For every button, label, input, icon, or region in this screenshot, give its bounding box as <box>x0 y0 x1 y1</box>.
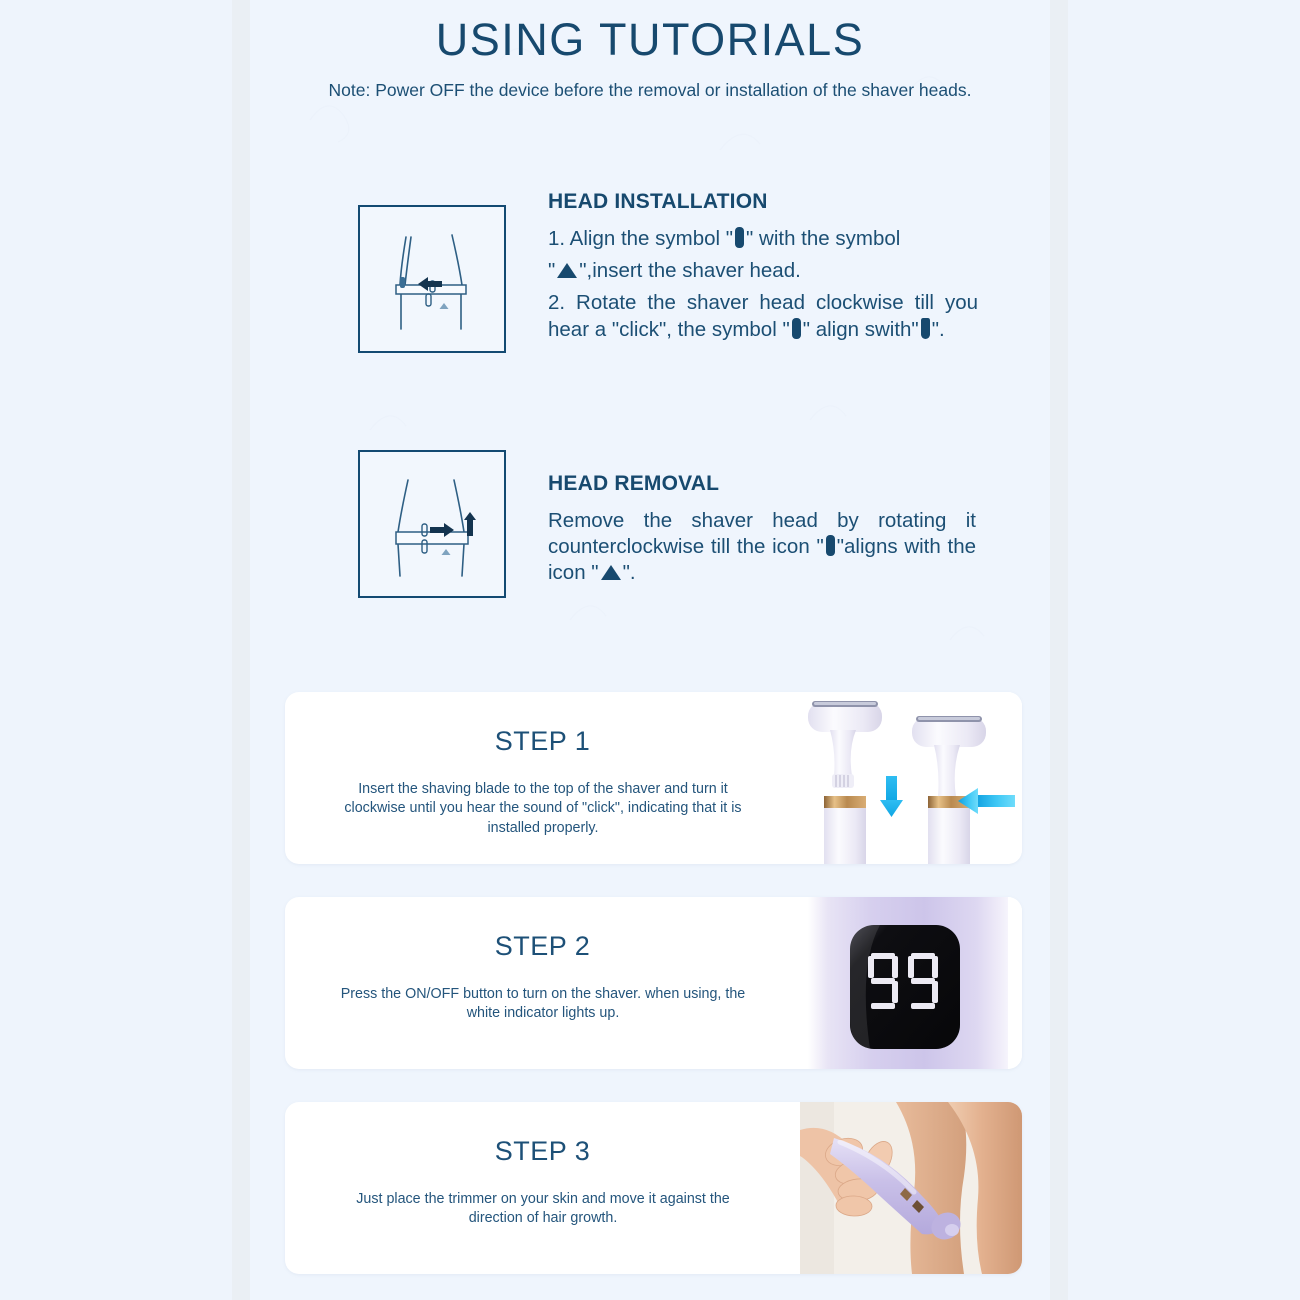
head-removal-line-1: Remove the shaver head by rotating it co… <box>548 508 976 587</box>
line-3-suffix2: ". <box>932 318 945 341</box>
pill-symbol-icon <box>735 227 744 248</box>
head-installation-line-1: 1. Align the symbol "" with the symbol <box>548 226 978 252</box>
step-1-media <box>800 692 1022 864</box>
left-gutter <box>232 0 250 1300</box>
step-1-label: STEP 1 <box>285 726 800 757</box>
head-removal-heading: HEAD REMOVAL <box>548 472 976 496</box>
step-3-label: STEP 3 <box>285 1136 800 1167</box>
line-2-prefix: " <box>548 259 555 282</box>
page-root: USING TUTORIALS Note: Power OFF the devi… <box>0 0 1300 1300</box>
line-1-suffix: " with the symbol <box>746 227 900 250</box>
step-3-description: Just place the trimmer on your skin and … <box>333 1190 753 1229</box>
head-installation-heading: HEAD INSTALLATION <box>548 190 978 214</box>
pill-symbol-icon <box>792 318 801 339</box>
step-card-1[interactable]: STEP 1 Insert the shaving blade to the t… <box>285 692 1022 864</box>
step-2-text: STEP 2 Press the ON/OFF button to turn o… <box>285 897 800 1069</box>
triangle-symbol-icon <box>601 565 621 580</box>
step-card-3[interactable]: STEP 3 Just place the trimmer on your sk… <box>285 1102 1022 1274</box>
step-1-text: STEP 1 Insert the shaving blade to the t… <box>285 692 800 864</box>
head-installation-line-3: 2. Rotate the shaver head clockwise till… <box>548 290 978 342</box>
content-panel: USING TUTORIALS Note: Power OFF the devi… <box>250 0 1050 1300</box>
page-note: Note: Power OFF the device before the re… <box>250 80 1050 101</box>
step-1-description: Insert the shaving blade to the top of t… <box>333 780 753 838</box>
line-1-prefix: 1. Align the symbol " <box>548 227 733 250</box>
step-3-media <box>800 1102 1022 1274</box>
pill-symbol-icon <box>826 535 835 556</box>
pill-down-symbol-icon <box>921 318 930 339</box>
removal-suffix2: ". <box>623 561 636 584</box>
line-2-suffix: ",insert the shaver head. <box>579 259 801 282</box>
step-2-description: Press the ON/OFF button to turn on the s… <box>333 985 753 1024</box>
step-2-label: STEP 2 <box>285 931 800 962</box>
line-3-suffix: " align swith" <box>803 318 919 341</box>
step-2-media <box>800 897 1022 1069</box>
page-title: USING TUTORIALS <box>250 14 1050 66</box>
head-installation-line-2: "",insert the shaver head. <box>548 258 978 284</box>
right-gutter <box>1050 0 1068 1300</box>
head-installation-diagram <box>358 205 506 353</box>
triangle-symbol-icon <box>557 263 577 278</box>
step-3-text: STEP 3 Just place the trimmer on your sk… <box>285 1102 800 1274</box>
head-removal-diagram <box>358 450 506 598</box>
step-card-2[interactable]: STEP 2 Press the ON/OFF button to turn o… <box>285 897 1022 1069</box>
